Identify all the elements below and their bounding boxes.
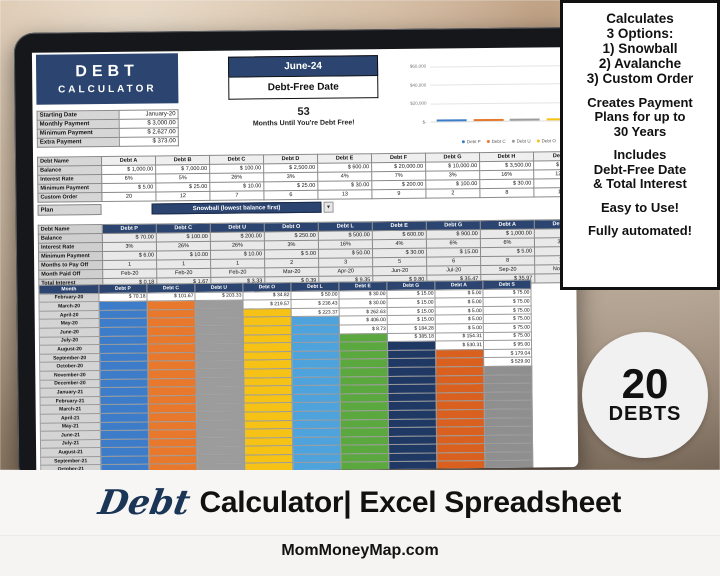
badge-label: DEBTS — [609, 403, 682, 426]
chart-series-band — [437, 119, 467, 121]
debt-entry-table: Debt NameDebt ADebt BDebt CDebt DDebt ED… — [37, 151, 578, 203]
feature-block-plans: Creates Payment Plans for up to 30 Years — [587, 96, 693, 140]
spreadsheet: DEBT CALCULATOR June-24 Debt-Free Date 5… — [32, 47, 578, 473]
table-cell[interactable]: 12 — [156, 191, 210, 201]
chart-legend-item: Debt P — [462, 139, 481, 144]
legend-swatch — [462, 140, 465, 143]
chart-gridline — [430, 83, 578, 86]
page-subtitle: CALCULATOR — [58, 83, 157, 95]
feature-block-options: Calculates 3 Options: 1) Snowball 2) Ava… — [587, 11, 694, 87]
chart-legend-item: Debt O — [537, 138, 556, 143]
plan-dropdown[interactable]: Snowball (lowest balance first) — [152, 202, 322, 215]
page-title: DEBT — [75, 63, 139, 82]
feature-block-automated: Fully automated! — [588, 224, 692, 239]
table-cell[interactable]: 6 — [264, 190, 318, 200]
footer-main-text: Calculator| Excel Spreadsheet — [200, 486, 622, 520]
chart-legend: Debt PDebt CDebt UDebt O — [431, 138, 578, 145]
footer-script-word: Debt — [95, 483, 193, 523]
table-cell[interactable]: 13 — [318, 190, 372, 200]
legend-swatch — [487, 140, 490, 143]
input-value[interactable]: $ 373.00 — [119, 137, 178, 147]
chart-y-tick: $- — [391, 120, 427, 125]
footer: Debt Calculator| Excel Spreadsheet MomMo… — [0, 470, 720, 576]
feature-block-includes: Includes Debt-Free Date & Total Interest — [593, 148, 687, 192]
legend-label: Debt U — [517, 139, 531, 144]
table-cell[interactable]: 8 — [480, 188, 534, 198]
chevron-down-icon[interactable]: ▾ — [323, 202, 333, 213]
chart-gridline — [430, 102, 578, 105]
debt-free-date-label: Debt-Free Date — [228, 76, 378, 100]
table-row: Extra Payment$ 373.00 — [37, 137, 178, 147]
badge-number: 20 — [622, 364, 669, 404]
chart-legend-item: Debt C — [487, 139, 506, 144]
legend-label: Debt P — [467, 139, 481, 144]
app-title-block: DEBT CALCULATOR — [36, 53, 179, 104]
row-label: Custom Order — [38, 193, 102, 203]
table-cell[interactable]: 20 — [102, 192, 156, 202]
plan-row: Plan Snowball (lowest balance first) ▾ — [38, 202, 334, 216]
legend-swatch — [537, 139, 540, 142]
table-cell[interactable]: 9 — [372, 189, 426, 199]
legend-label: Debt C — [492, 139, 506, 144]
balance-chart: $60,000$40,000$20,000$- Debt PDebt CDebt… — [390, 59, 578, 149]
table-cell[interactable]: 2 — [426, 189, 480, 199]
plan-label: Plan — [38, 204, 102, 216]
website-url: MomMoneyMap.com — [0, 542, 720, 560]
chart-legend-item: Debt U — [512, 139, 531, 144]
table-cell[interactable]: 7 — [210, 191, 264, 201]
debt-free-date-value: June-24 — [228, 55, 378, 78]
chart-series-band — [473, 119, 503, 121]
chart-y-tick: $40,000 — [390, 82, 426, 87]
chart-series-band — [510, 118, 540, 120]
chart-plot-area — [430, 65, 578, 123]
payoff-summary-table: Debt NameDebt PDebt CDebt UDebt ODebt LD… — [38, 219, 579, 289]
legend-label: Debt O — [542, 138, 556, 143]
chart-y-tick: $60,000 — [390, 64, 426, 69]
tablet-device: DEBT CALCULATOR June-24 Debt-Free Date 5… — [14, 27, 579, 473]
months-until-value: 53 — [228, 105, 378, 119]
chart-y-axis: $60,000$40,000$20,000$- — [390, 59, 578, 61]
input-label: Extra Payment — [37, 137, 119, 147]
debt-count-badge: 20 DEBTS — [582, 332, 708, 458]
amortization-table: MonthDebt PDebt CDebt UDebt ODebt LDebt … — [38, 280, 533, 473]
debt-free-date-card: June-24 Debt-Free Date — [228, 55, 378, 100]
features-panel: Calculates 3 Options: 1) Snowball 2) Ava… — [560, 0, 720, 290]
legend-swatch — [512, 140, 515, 143]
tablet-screen: DEBT CALCULATOR June-24 Debt-Free Date 5… — [32, 47, 578, 473]
inputs-table: Starting DateJanuary-20Monthly Payment$ … — [37, 109, 179, 147]
feature-block-easy: Easy to Use! — [601, 201, 679, 216]
chart-y-tick: $20,000 — [390, 101, 426, 106]
months-until-label: Months Until You're Debt Free! — [199, 119, 409, 128]
chart-gridline — [430, 65, 578, 68]
footer-title-bar: Debt Calculator| Excel Spreadsheet — [0, 470, 720, 536]
